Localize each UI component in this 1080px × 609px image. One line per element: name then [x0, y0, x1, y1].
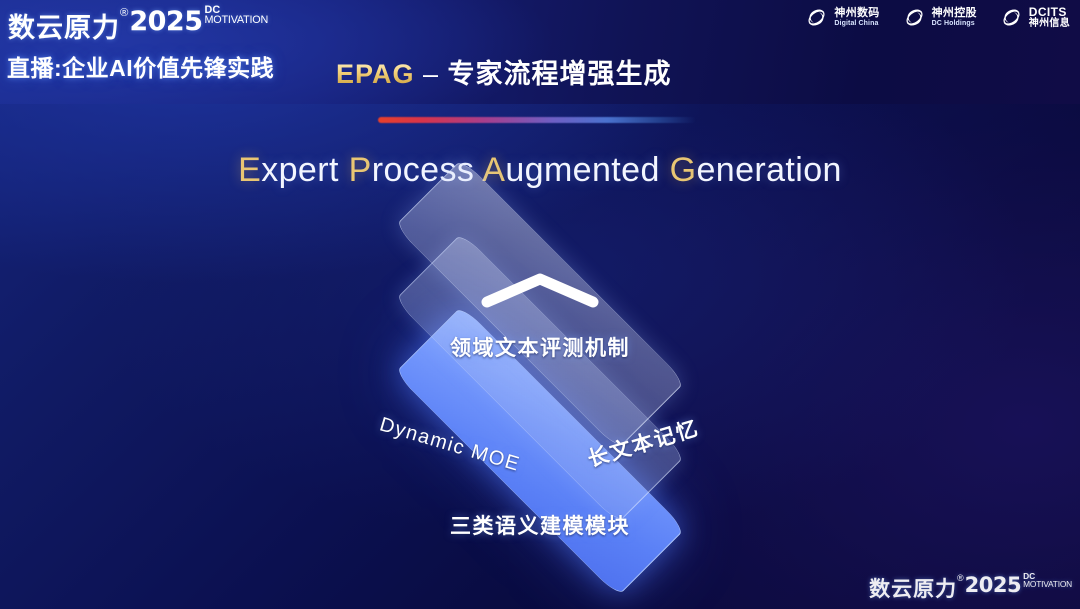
watermark-year: 2025 — [965, 573, 1021, 597]
brand-registered-mark: ® — [120, 8, 128, 19]
watermark-registered-mark: ® — [957, 574, 964, 583]
acronym-letter-p: P — [349, 151, 372, 189]
swirl-logo-icon — [902, 5, 927, 30]
diagram-label-top: 领域文本评测机制 — [0, 332, 1080, 362]
partner-logo-dcits: DCITS 神州信息 — [999, 5, 1070, 30]
watermark-dc-line2: MOTIVATION — [1023, 581, 1072, 589]
partner-text: 神州控股 DC Holdings — [932, 8, 977, 27]
chevron-up-icon — [479, 270, 601, 310]
acronym-word-generation: eneration — [696, 151, 841, 189]
swirl-logo-icon — [999, 5, 1024, 30]
partner-name-en: DC Holdings — [932, 20, 977, 27]
diagram-label-bottom: 三类语义建模模块 — [0, 510, 1080, 540]
page-title-dash: – — [415, 59, 448, 89]
brand-dc-motivation: DC MOTIVATION — [205, 6, 269, 26]
acronym-letter-a: A — [482, 151, 505, 189]
partner-logo-dc-holdings: 神州控股 DC Holdings — [902, 5, 977, 30]
event-brand-logo: 数云原力®2025 DC MOTIVATION — [8, 6, 268, 45]
partner-name-en: DCITS — [1029, 6, 1070, 19]
diagram-label-dynamic-moe: Dynamic MOE — [377, 413, 523, 476]
acronym-word-process: rocess — [372, 151, 483, 189]
acronym-word-expert: xpert — [261, 151, 348, 189]
page-title-acronym: EPAG — [336, 59, 415, 89]
partner-name-cn: 神州数码 — [834, 8, 879, 20]
page-title-cn: 专家流程增强生成 — [448, 59, 672, 89]
brand-dc-line2: MOTIVATION — [205, 16, 269, 26]
acronym-letter-e: E — [238, 151, 261, 189]
brand-name-cn: 数云原力 — [8, 6, 120, 45]
watermark-dc-motivation: DC MOTIVATION — [1023, 573, 1072, 588]
partner-logo-group: 神州数码 Digital China 神州控股 DC Holdings — [804, 5, 1070, 30]
partner-logo-digital-china: 神州数码 Digital China — [804, 5, 879, 30]
partner-name-cn: 神州信息 — [1029, 19, 1070, 30]
partner-name-cn: 神州控股 — [932, 8, 977, 20]
diagram-label-long-text-memory: 长文本记忆 — [584, 412, 703, 473]
page-title: EPAG – 专家流程增强生成 — [336, 52, 672, 91]
partner-text: 神州数码 Digital China — [834, 8, 879, 27]
acronym-letter-g: G — [670, 151, 697, 189]
acronym-word-augmented: ugmented — [505, 151, 669, 189]
acronym-expansion: Expert Process Augmented Generation — [0, 151, 1080, 190]
slide-root: 数云原力®2025 DC MOTIVATION 直播:企业AI价值先锋实践 神州… — [0, 0, 1080, 609]
brand-year: 2025 — [129, 6, 202, 37]
partner-name-en: Digital China — [834, 20, 879, 27]
partner-text: DCITS 神州信息 — [1029, 6, 1070, 29]
live-broadcast-title: 直播:企业AI价值先锋实践 — [7, 49, 274, 83]
gradient-divider — [378, 117, 696, 123]
swirl-logo-icon — [804, 5, 829, 30]
bottom-watermark-logo: 数云原力®2025 DC MOTIVATION — [869, 573, 1072, 603]
watermark-name-cn: 数云原力 — [869, 573, 957, 603]
